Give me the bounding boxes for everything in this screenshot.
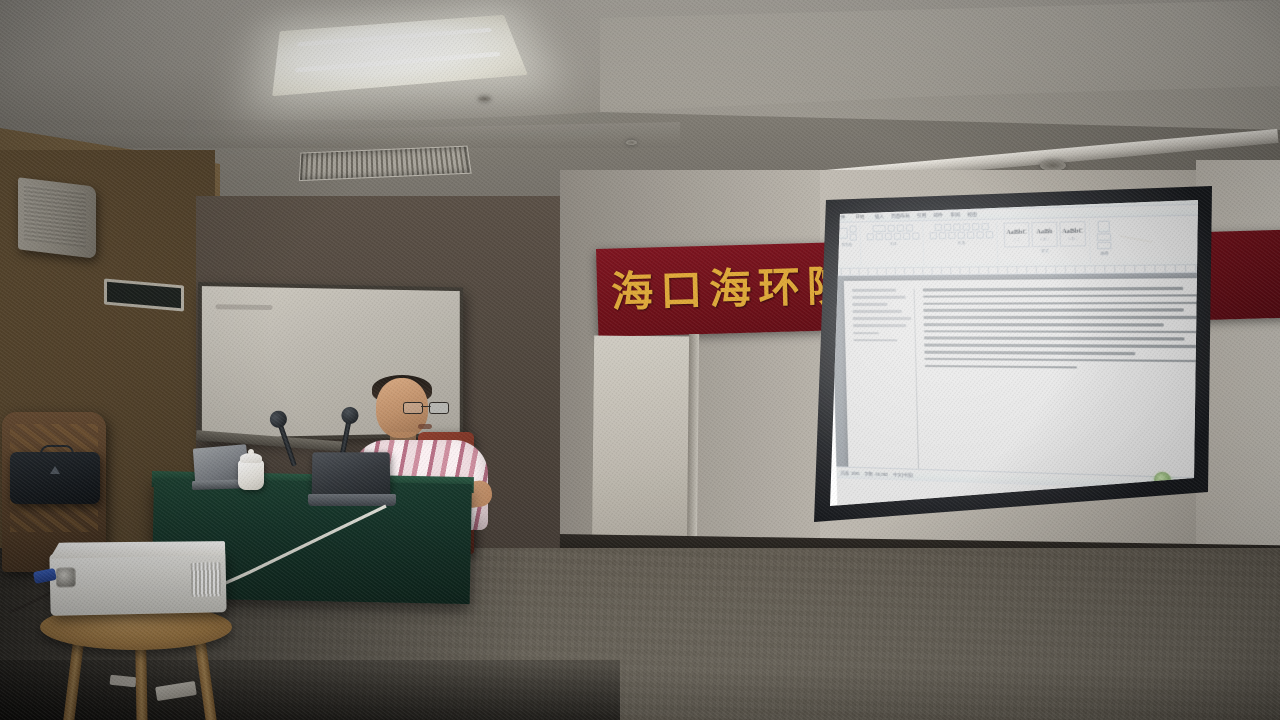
text-line [924,330,1209,333]
style-gallery[interactable]: AaBbC 正文 AaBb 标题 1 AaBbC 标题 2 [1004,221,1087,247]
text-line [924,351,1134,355]
text-line [924,358,1209,363]
word-document-title: 文档1 - Microsoft Word [994,197,1048,206]
text-line [924,337,1185,341]
projected-word-window[interactable]: 文档1 - Microsoft Word 文件 开始 插入 页面布局 引用 邮件… [830,190,1212,522]
word-ribbon[interactable]: 剪贴板 [831,215,1212,269]
font-color-icon[interactable] [912,232,919,239]
italic-icon[interactable] [876,233,883,240]
justify-icon[interactable] [958,232,965,239]
presenter-laptop[interactable] [308,452,394,508]
shading-icon[interactable] [976,231,984,238]
style-preview: AaBb [1036,227,1052,235]
laptop-keyboard[interactable] [308,494,396,506]
style-preview: AaBbC [1062,227,1084,235]
tab-insert[interactable]: 插入 [875,213,884,219]
text-line [852,296,906,299]
strikethrough-icon[interactable] [894,233,901,240]
text-line [853,310,903,313]
increase-indent-icon[interactable] [971,223,979,230]
tab-references[interactable]: 引用 [917,212,927,218]
ribbon-group-paragraph[interactable]: 段落 [926,222,998,265]
tab-view[interactable]: 视图 [967,211,977,217]
conference-room-photo: 海口海环院环境 文档1 - Microsoft Word [0,0,1280,720]
tab-home[interactable]: 开始 [852,213,867,221]
grow-font-icon[interactable] [897,225,904,232]
quick-access-toolbar[interactable] [833,200,852,205]
align-center-icon[interactable] [939,232,946,239]
presenter-mouth [418,424,432,429]
decrease-indent-icon[interactable] [962,223,969,230]
text-line [923,309,1184,312]
style-heading-1[interactable]: AaBb 标题 1 [1031,222,1057,248]
document-table-column-right [919,287,1212,478]
shrink-font-icon[interactable] [906,224,913,231]
text-line [923,316,1208,319]
line-spacing-icon[interactable] [967,231,975,238]
ribbon-group-label: 编辑 [1100,251,1108,256]
presenter-head [376,378,428,438]
align-left-icon[interactable] [930,232,937,239]
stool-leg [194,634,218,720]
paste-icon[interactable] [837,228,848,239]
text-line [853,339,897,342]
text-line [923,287,1184,291]
bullets-icon[interactable] [934,224,941,231]
text-line [925,365,1078,369]
borders-icon[interactable] [986,231,994,238]
font-size-select[interactable] [888,225,895,232]
replace-icon[interactable] [1097,233,1112,241]
tab-file[interactable]: 文件 [836,214,845,220]
word-count[interactable]: 字数: 43,082 [864,471,888,478]
text-line [853,332,879,335]
style-heading-2[interactable]: AaBbC 标题 2 [1059,221,1086,247]
wooden-stool [40,604,232,720]
wall-speaker-icon [18,177,96,259]
projector [49,550,226,616]
laptop-bag [10,452,100,504]
vga-connector-icon [33,568,57,584]
projector-vent-icon [191,562,222,597]
document-canvas[interactable] [832,272,1212,478]
text-line [923,294,1208,298]
text-highlight-icon[interactable] [903,233,910,240]
style-preview: AaBbC [1006,228,1027,236]
text-line [853,317,912,320]
zoom-level[interactable]: 100% [1176,481,1188,487]
find-icon[interactable] [1098,221,1110,233]
text-line [924,344,1209,348]
back-door[interactable] [591,335,691,552]
ribbon-group-label: 段落 [958,241,966,246]
page-indicator[interactable]: 页面: 2/80 [840,470,859,477]
text-line [853,325,907,328]
undo-icon[interactable] [840,201,845,206]
document-page[interactable] [844,278,1212,478]
projector-lens-icon [56,567,76,587]
text-line [852,303,887,306]
numbering-icon[interactable] [943,224,950,231]
stool-leg [135,644,148,720]
ceiling-downlight-icon [478,96,491,102]
bold-icon[interactable] [867,233,874,240]
sort-icon[interactable] [981,223,989,230]
text-line [924,323,1164,326]
ribbon-group-styles[interactable]: AaBbC 正文 AaBb 标题 1 AaBbC 标题 2 [1000,220,1091,264]
text-line [923,301,1208,305]
ribbon-group-clipboard[interactable]: 剪贴板 [834,224,862,266]
font-family-select[interactable] [872,225,885,232]
laptop-lid [312,452,391,496]
text-line [852,289,896,292]
bag-logo-icon [50,466,60,474]
eyeglasses-icon [403,402,449,412]
zoom-controls[interactable]: 100% [1176,481,1212,488]
tab-mailings[interactable]: 邮件 [933,212,943,218]
document-table-column-left [852,289,919,469]
whiteboard-smudge [215,304,272,310]
multilevel-list-icon[interactable] [953,223,960,230]
ceiling-downlight-icon [626,140,637,145]
redo-icon[interactable] [847,200,852,205]
ribbon-group-editing[interactable]: 编辑 [1093,219,1115,263]
stool-leg [62,636,84,720]
language-indicator[interactable]: 中文(中国) [893,472,913,479]
projection-screen-frame: 文档1 - Microsoft Word 文件 开始 插入 页面布局 引用 邮件… [808,186,1212,522]
projection-screen-surface: 文档1 - Microsoft Word 文件 开始 插入 页面布局 引用 邮件… [808,186,1212,522]
underline-icon[interactable] [885,233,892,240]
ribbon-group-font[interactable]: 字体 [863,223,924,265]
style-name: 正文 [1013,236,1020,241]
teacup [238,460,264,490]
ribbon-group-label: 剪贴板 [842,243,853,248]
save-icon[interactable] [833,201,838,206]
style-normal[interactable]: AaBbC 正文 [1004,222,1030,247]
ribbon-group-label: 字体 [889,242,896,247]
align-right-icon[interactable] [948,232,955,239]
style-name: 标题 2 [1067,235,1078,240]
tab-review[interactable]: 审阅 [950,212,960,218]
cut-icon[interactable] [849,225,856,232]
tab-page-layout[interactable]: 页面布局 [891,213,910,219]
ribbon-group-label: 样式 [1041,249,1049,254]
eco-tray-icon[interactable] [1154,472,1171,489]
select-icon[interactable] [1097,242,1112,250]
copy-icon[interactable] [850,234,857,241]
style-name: 标题 1 [1039,236,1049,241]
